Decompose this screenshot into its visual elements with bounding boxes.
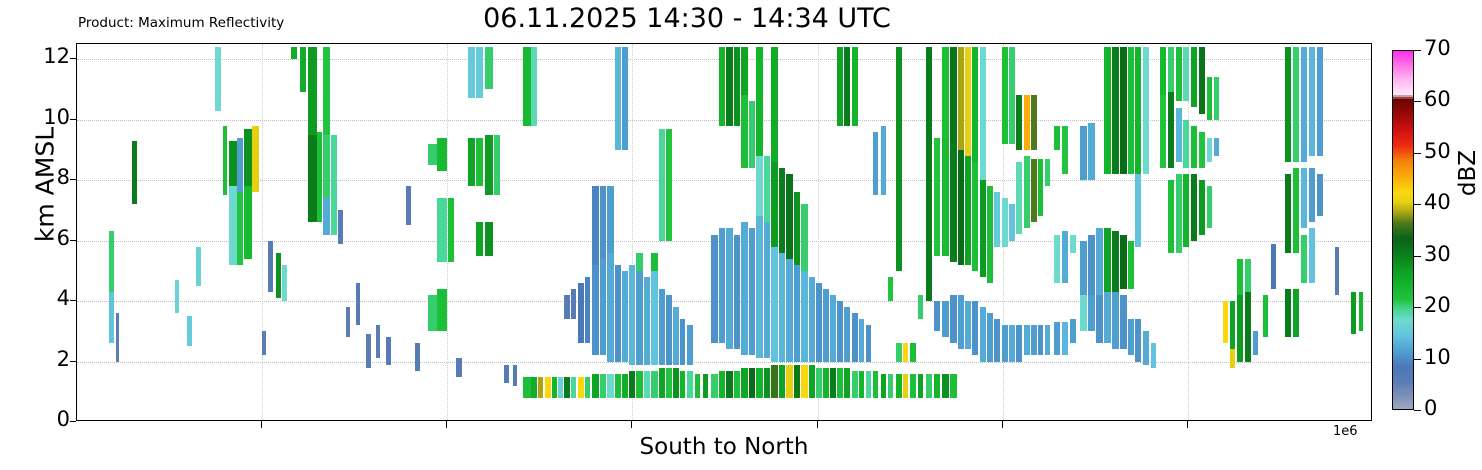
reflectivity-cell — [896, 47, 902, 271]
reflectivity-cell — [666, 368, 672, 398]
reflectivity-cell — [268, 241, 273, 292]
reflectivity-cell — [1128, 319, 1134, 355]
reflectivity-cell — [323, 135, 330, 199]
reflectivity-cell — [965, 47, 971, 156]
reflectivity-cell — [607, 253, 614, 362]
reflectivity-cell — [504, 365, 509, 383]
reflectivity-cell — [749, 101, 755, 168]
reflectivity-cell — [1009, 204, 1015, 240]
reflectivity-cell — [494, 135, 500, 195]
reflectivity-cell — [771, 47, 778, 162]
reflectivity-cell — [1120, 235, 1127, 289]
reflectivity-cell — [965, 156, 971, 265]
colorbar-label: dBZ — [1455, 83, 1481, 263]
y-tick-mark-4 — [70, 179, 76, 180]
reflectivity-cell — [1151, 343, 1156, 367]
reflectivity-cell — [1104, 228, 1111, 292]
colorbar-tick-mark-4 — [1414, 204, 1421, 205]
colorbar[interactable] — [1392, 50, 1414, 410]
reflectivity-cell — [1263, 295, 1268, 337]
reflectivity-cell — [1062, 231, 1068, 282]
y-tick-label-0: 0 — [10, 407, 70, 431]
reflectivity-cell — [896, 374, 902, 398]
reflectivity-cell — [1135, 319, 1141, 361]
reflectivity-cell — [1237, 295, 1243, 362]
reflectivity-cell — [592, 186, 599, 265]
reflectivity-cell — [1176, 108, 1182, 162]
reflectivity-cell — [786, 174, 793, 259]
colorbar-tick-mark-0 — [1414, 410, 1421, 411]
reflectivity-cell — [215, 47, 221, 111]
reflectivity-cell — [331, 135, 337, 235]
reflectivity-cell — [1207, 77, 1213, 119]
reflectivity-cell — [830, 368, 836, 398]
reflectivity-cell — [1168, 47, 1174, 92]
reflectivity-cell — [1002, 325, 1008, 361]
reflectivity-cell — [386, 337, 391, 364]
reflectivity-cell — [615, 265, 621, 362]
reflectivity-cell — [687, 325, 693, 364]
reflectivity-cell — [366, 334, 371, 367]
reflectivity-cell — [308, 135, 317, 223]
reflectivity-cell — [1112, 292, 1119, 349]
reflectivity-cell — [1237, 259, 1243, 295]
reflectivity-cell — [1301, 235, 1307, 283]
reflectivity-cell — [866, 371, 871, 398]
reflectivity-cell — [1168, 92, 1174, 168]
reflectivity-cell — [1143, 331, 1149, 364]
reflectivity-cell — [592, 265, 599, 356]
reflectivity-cell — [323, 198, 330, 234]
reflectivity-cell — [1112, 47, 1119, 174]
reflectivity-cell — [1245, 292, 1251, 362]
reflectivity-cell — [323, 47, 330, 135]
y-tick-mark-5 — [70, 119, 76, 120]
reflectivity-cell — [888, 374, 893, 398]
reflectivity-cell — [1024, 156, 1030, 229]
reflectivity-cell — [578, 283, 584, 343]
reflectivity-cell — [987, 313, 993, 361]
reflectivity-cell — [786, 365, 793, 398]
reflectivity-cell — [223, 126, 227, 196]
reflectivity-cell — [852, 47, 858, 126]
reflectivity-cell — [756, 156, 763, 216]
reflectivity-cell — [244, 129, 252, 186]
reflectivity-cell — [338, 210, 343, 243]
reflectivity-cell — [726, 371, 733, 398]
reflectivity-cell — [881, 374, 886, 398]
reflectivity-cell — [636, 253, 643, 271]
reflectivity-cell — [1009, 325, 1015, 361]
reflectivity-cell — [552, 377, 557, 398]
reflectivity-cell — [659, 289, 665, 365]
reflectivity-cell — [749, 228, 755, 355]
reflectivity-cell — [629, 371, 635, 398]
reflectivity-cell — [687, 371, 693, 398]
x-gridline-3 — [818, 44, 819, 420]
reflectivity-cell — [903, 343, 908, 361]
reflectivity-cell — [942, 138, 949, 256]
reflectivity-cell — [262, 331, 266, 355]
reflectivity-cell — [578, 377, 584, 398]
y-tick-mark-0 — [70, 421, 76, 422]
reflectivity-cell — [809, 365, 815, 398]
x-gridline-0 — [262, 44, 263, 420]
reflectivity-cell — [844, 47, 850, 126]
reflectivity-cell — [950, 144, 957, 262]
reflectivity-cell — [1176, 174, 1182, 253]
reflectivity-cell — [1112, 231, 1119, 291]
x-tick-mark-3 — [817, 421, 818, 428]
colorbar-tick-label-3: 30 — [1424, 242, 1451, 266]
x-tick-mark-1 — [446, 421, 447, 428]
reflectivity-cell — [1351, 292, 1356, 334]
reflectivity-cell — [476, 138, 483, 186]
reflectivity-cell — [600, 259, 606, 356]
colorbar-tick-mark-5 — [1414, 153, 1421, 154]
reflectivity-cell — [1120, 47, 1127, 174]
reflectivity-cell — [229, 141, 237, 186]
reflectivity-cell — [237, 192, 244, 265]
reflectivity-cell — [1176, 47, 1182, 101]
reflectivity-cell — [749, 368, 755, 398]
x-axis-label: South to North — [76, 434, 1372, 460]
reflectivity-cell — [837, 301, 843, 361]
reflectivity-cell — [659, 368, 665, 398]
reflectivity-cell — [607, 186, 614, 253]
y-tick-mark-1 — [70, 361, 76, 362]
reflectivity-cell — [1088, 235, 1095, 295]
reflectivity-cell — [485, 222, 493, 255]
reflectivity-cell — [764, 368, 770, 398]
reflectivity-cell — [1024, 325, 1030, 355]
reflectivity-cell — [844, 307, 850, 361]
reflectivity-cell — [965, 301, 971, 349]
reflectivity-cell — [415, 343, 420, 370]
reflectivity-cell — [764, 156, 770, 223]
reflectivity-cell — [1199, 132, 1205, 168]
reflectivity-cell — [1031, 95, 1037, 149]
reflectivity-cell — [428, 295, 437, 331]
reflectivity-cell — [779, 253, 785, 362]
reflectivity-cell — [1335, 247, 1339, 295]
reflectivity-cell — [1009, 47, 1015, 144]
reflectivity-cell — [934, 374, 940, 398]
colorbar-tick-label-1: 10 — [1424, 345, 1451, 369]
reflectivity-cell — [873, 371, 878, 398]
colorbar-tick-label-4: 40 — [1424, 190, 1451, 214]
reflectivity-cell — [564, 295, 570, 319]
reflectivity-cell — [1207, 138, 1213, 162]
reflectivity-cell — [1191, 126, 1197, 168]
reflectivity-cell — [1088, 295, 1095, 331]
reflectivity-cell — [741, 368, 748, 398]
reflectivity-cell — [564, 377, 570, 398]
colorbar-tick-label-5: 50 — [1424, 139, 1451, 163]
reflectivity-cell — [615, 47, 621, 150]
reflectivity-cell — [1031, 325, 1037, 355]
reflectivity-cell — [816, 283, 822, 362]
reflectivity-cell — [109, 231, 114, 291]
reflectivity-cell — [1016, 162, 1022, 235]
reflectivity-cell — [1088, 123, 1095, 180]
reflectivity-cell — [1285, 47, 1291, 162]
reflectivity-cell — [980, 47, 986, 180]
reflectivity-cell — [703, 374, 708, 398]
reflectivity-cell — [934, 138, 940, 256]
reflectivity-cell — [734, 47, 740, 126]
reflectivity-cell — [1309, 228, 1315, 282]
reflectivity-cell — [531, 47, 537, 126]
reflectivity-cell — [881, 126, 886, 196]
reflectivity-cell — [958, 47, 964, 150]
reflectivity-cell — [1293, 168, 1299, 253]
reflectivity-cell — [629, 265, 635, 365]
reflectivity-cell — [918, 295, 923, 319]
y-tick-mark-6 — [70, 58, 76, 59]
product-subtitle: Product: Maximum Reflectivity — [78, 15, 284, 31]
reflectivity-cell — [1038, 325, 1043, 355]
colorbar-tick-mark-6 — [1414, 101, 1421, 102]
reflectivity-cell — [545, 377, 551, 398]
colorbar-tick-label-0: 0 — [1424, 396, 1437, 420]
reflectivity-cell — [1045, 159, 1050, 186]
reflectivity-cell — [252, 126, 259, 193]
reflectivity-cell — [1070, 235, 1076, 253]
reflectivity-cell — [1038, 159, 1043, 216]
reflectivity-cell — [1191, 174, 1197, 241]
reflectivity-cell — [896, 343, 902, 361]
reflectivity-cell — [116, 313, 119, 361]
reflectivity-cell — [1207, 186, 1213, 228]
reflectivity-cell — [711, 374, 718, 398]
reflectivity-cell — [1168, 180, 1174, 253]
reflectivity-cell — [1160, 47, 1166, 95]
reflectivity-cell — [950, 295, 957, 343]
reflectivity-cell — [950, 374, 957, 398]
reflectivity-cell — [1045, 325, 1050, 355]
reflectivity-cell — [1285, 174, 1291, 253]
reflectivity-cell — [1199, 180, 1205, 234]
reflectivity-cell — [1223, 301, 1228, 343]
reflectivity-cell — [711, 235, 718, 344]
reflectivity-cell — [1309, 47, 1315, 156]
colorbar-tick-mark-2 — [1414, 307, 1421, 308]
reflectivity-cell — [1253, 331, 1258, 355]
reflectivity-cell — [468, 138, 475, 186]
colorbar-tick-label-2: 20 — [1424, 293, 1451, 317]
reflectivity-cell — [972, 301, 978, 355]
y-axis-label: km AMSL — [31, 55, 60, 315]
reflectivity-cell — [1183, 47, 1189, 101]
reflectivity-cell — [673, 368, 679, 398]
reflectivity-cell — [734, 235, 740, 350]
reflectivity-cell — [1031, 159, 1037, 223]
reflectivity-cell — [926, 47, 932, 301]
reflectivity-cell — [615, 374, 621, 398]
reflectivity-cell — [485, 47, 493, 89]
reflectivity-cell — [666, 295, 672, 365]
reflectivity-cell — [448, 198, 454, 262]
reflectivity-cell — [600, 374, 606, 398]
reflectivity-cell — [719, 47, 725, 126]
colorbar-tick-mark-1 — [1414, 359, 1421, 360]
reflectivity-cell — [317, 132, 322, 223]
reflectivity-cell — [1183, 174, 1189, 247]
reflectivity-cell — [764, 222, 770, 358]
reflectivity-cell — [794, 365, 800, 398]
reflectivity-cell — [622, 374, 628, 398]
reflectivity-cell — [695, 374, 700, 398]
reflectivity-cell — [837, 47, 843, 126]
reflectivity-cell — [175, 280, 179, 313]
reflectivity-cell — [1143, 47, 1149, 174]
reflectivity-cell — [958, 150, 964, 265]
reflectivity-cell — [741, 95, 748, 168]
reflectivity-cell — [1096, 295, 1103, 343]
reflectivity-cell — [1024, 95, 1030, 149]
reflectivity-cell — [538, 377, 543, 398]
reflectivity-cell — [866, 325, 871, 361]
reflectivity-cell — [531, 377, 537, 398]
reflectivity-cell — [794, 265, 800, 362]
reflectivity-cell — [1120, 295, 1127, 349]
reflectivity-cell — [585, 377, 590, 398]
reflectivity-cell — [132, 141, 137, 205]
reflectivity-cell — [1317, 47, 1323, 156]
reflectivity-cell — [859, 319, 864, 361]
reflectivity-cell — [644, 277, 650, 365]
reflectivity-cell — [1062, 126, 1068, 174]
reflectivity-cell — [786, 259, 793, 362]
reflectivity-cell — [1230, 301, 1235, 349]
reflectivity-cell — [523, 377, 531, 398]
reflectivity-cell — [859, 371, 864, 398]
reflectivity-cell — [1054, 126, 1060, 150]
reflectivity-cell — [592, 374, 599, 398]
reflectivity-cell — [726, 228, 733, 349]
reflectivity-cell — [1199, 47, 1205, 114]
reflectivity-cell — [1214, 77, 1219, 119]
reflectivity-cell — [523, 47, 531, 126]
reflectivity-cell — [187, 316, 192, 346]
reflectivity-cell — [300, 47, 306, 92]
reflectivity-cell — [1160, 95, 1166, 168]
reflectivity-cell — [376, 325, 380, 358]
reflectivity-cell — [237, 138, 244, 192]
reflectivity-cell — [571, 289, 576, 319]
reflectivity-cell — [1245, 259, 1251, 292]
reflectivity-cell — [1183, 120, 1189, 168]
reflectivity-cell — [888, 277, 893, 301]
reflectivity-cell — [1080, 126, 1087, 180]
colorbar-band — [1393, 50, 1413, 51]
reflectivity-cell — [734, 371, 740, 398]
reflectivity-cell — [1135, 47, 1141, 174]
reflectivity-cell — [673, 307, 679, 364]
reflectivity-cell — [756, 47, 763, 156]
reflectivity-cell — [942, 374, 949, 398]
reflectivity-cell — [794, 192, 800, 265]
colorbar-tick-mark-3 — [1414, 256, 1421, 257]
reflectivity-cell — [607, 374, 614, 398]
reflectivity-cell — [1271, 244, 1276, 289]
y-tick-mark-2 — [70, 300, 76, 301]
reflectivity-cell — [1002, 47, 1008, 144]
reflectivity-cell — [229, 186, 237, 265]
colorbar-tick-label-7: 70 — [1424, 36, 1451, 60]
reflectivity-cell — [756, 216, 763, 358]
reflectivity-cell — [942, 301, 949, 337]
reflectivity-cell — [1301, 168, 1307, 228]
reflectivity-cell — [1002, 198, 1008, 246]
reflectivity-cell — [356, 283, 360, 325]
reflectivity-cell — [513, 365, 517, 386]
reflectivity-cell — [801, 271, 808, 362]
reflectivity-cell — [903, 374, 908, 398]
reflectivity-cell — [816, 368, 822, 398]
reflectivity-cell — [1359, 292, 1363, 331]
reflectivity-cell — [852, 313, 858, 361]
colorbar-tick-label-6: 60 — [1424, 87, 1451, 111]
plot-area[interactable] — [76, 43, 1372, 421]
reflectivity-cell — [771, 247, 778, 362]
reflectivity-cell — [476, 47, 483, 98]
reflectivity-cell — [1080, 241, 1087, 295]
reflectivity-cell — [809, 277, 815, 362]
reflectivity-cell — [680, 319, 685, 364]
reflectivity-cell — [1191, 47, 1197, 107]
reflectivity-cell — [918, 374, 923, 398]
reflectivity-cell — [741, 47, 748, 95]
reflectivity-cell — [1135, 174, 1141, 247]
reflectivity-cell — [476, 222, 483, 255]
x-tick-mark-5 — [1187, 421, 1188, 428]
reflectivity-cell — [1293, 289, 1299, 337]
reflectivity-cell — [636, 271, 643, 365]
reflectivity-cell — [972, 162, 978, 271]
reflectivity-cell — [934, 301, 940, 331]
colorbar-tick-mark-7 — [1414, 50, 1421, 51]
reflectivity-cell — [942, 47, 949, 138]
reflectivity-cell — [801, 204, 808, 271]
reflectivity-cell — [1104, 292, 1111, 343]
reflectivity-cell — [196, 247, 201, 286]
reflectivity-cell — [651, 271, 658, 365]
reflectivity-cell — [1285, 289, 1291, 337]
reflectivity-cell — [910, 374, 916, 398]
reflectivity-cell — [771, 162, 778, 247]
reflectivity-cell — [636, 371, 643, 398]
reflectivity-cell — [1293, 47, 1299, 162]
reflectivity-cell — [346, 307, 350, 337]
reflectivity-cell — [558, 377, 563, 398]
y-tick-mark-3 — [70, 240, 76, 241]
reflectivity-cell — [779, 168, 785, 253]
reflectivity-cell — [437, 138, 447, 171]
reflectivity-cell — [910, 343, 916, 361]
reflectivity-cell — [622, 271, 628, 362]
reflectivity-cell — [719, 371, 725, 398]
reflectivity-cell — [801, 365, 808, 398]
reflectivity-cell — [109, 292, 114, 343]
reflectivity-cell — [980, 180, 986, 277]
reflectivity-cell — [1096, 228, 1103, 295]
reflectivity-cell — [719, 228, 725, 343]
reflectivity-cell — [622, 47, 628, 150]
reflectivity-cell — [437, 289, 447, 331]
reflectivity-cell — [741, 222, 748, 355]
